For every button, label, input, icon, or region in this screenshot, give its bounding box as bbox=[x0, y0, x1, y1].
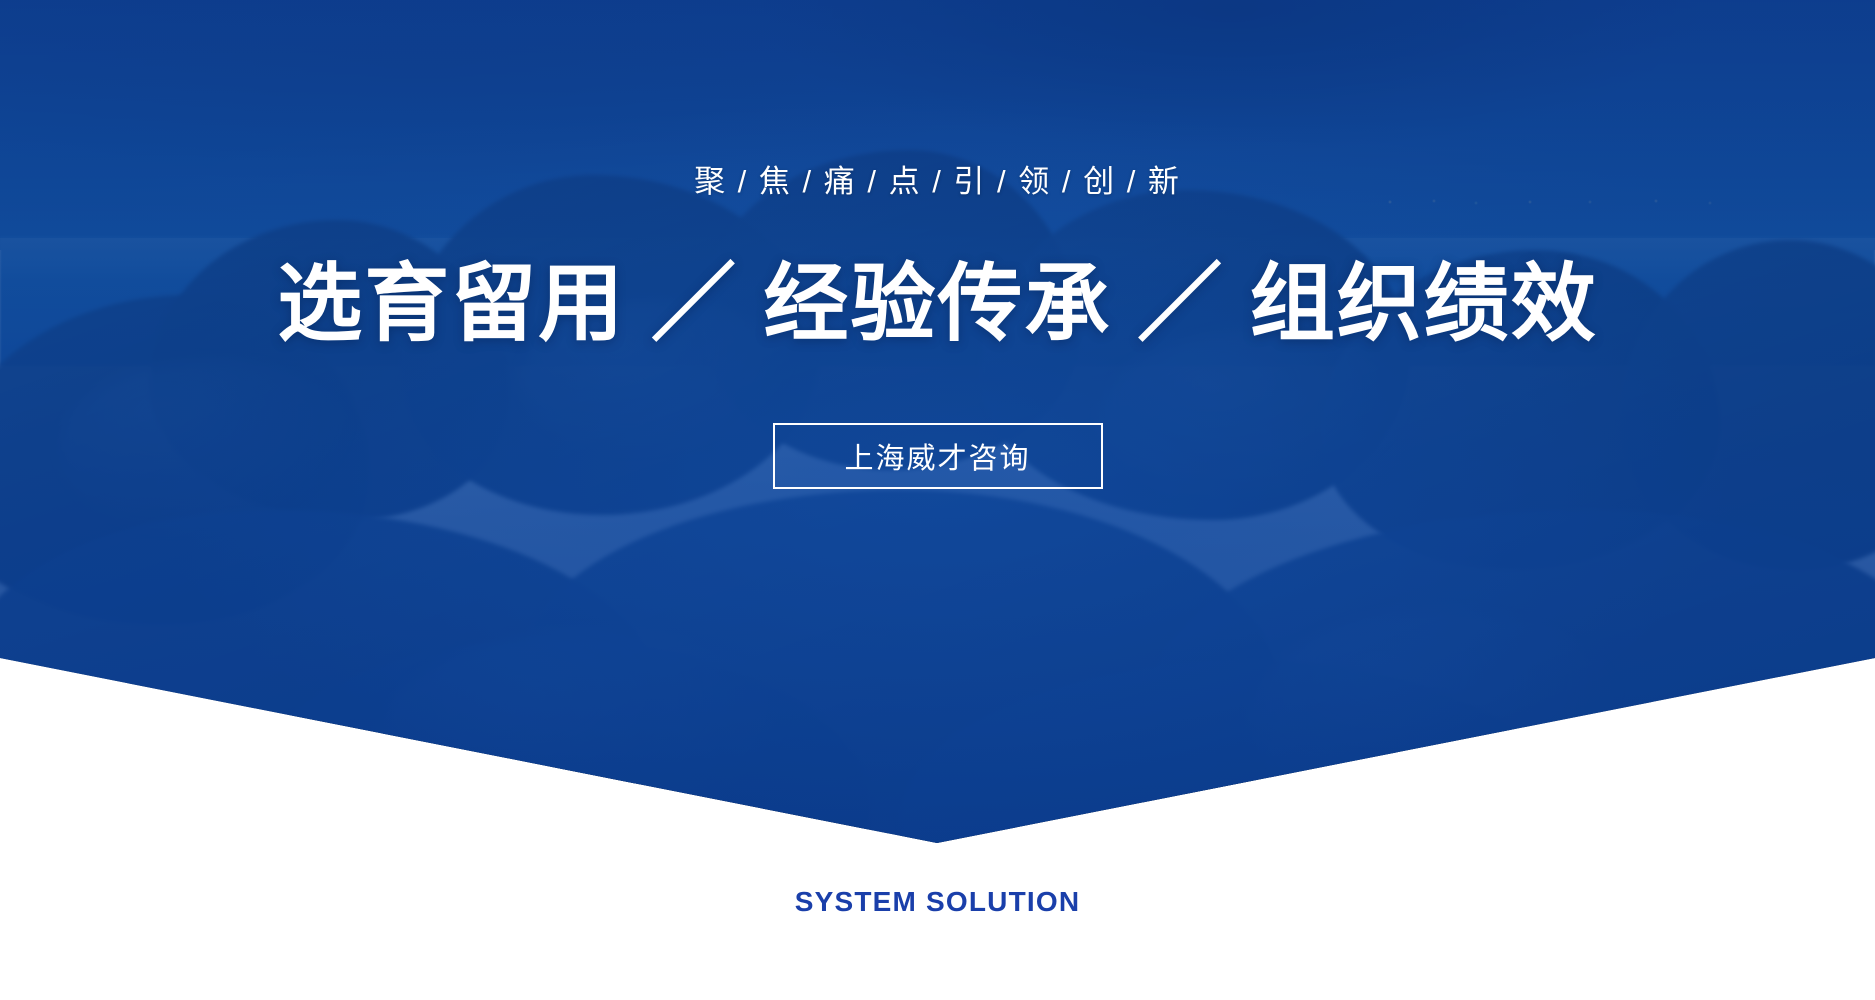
footer-tagline: SYSTEM SOLUTION bbox=[795, 886, 1081, 918]
hero-content: 聚 / 焦 / 痛 / 点 / 引 / 领 / 创 / 新 选育留用 ／ 经验传… bbox=[0, 0, 1875, 845]
footer-band: SYSTEM SOLUTION bbox=[0, 845, 1875, 1000]
slide-root: 聚 / 焦 / 痛 / 点 / 引 / 领 / 创 / 新 选育留用 ／ 经验传… bbox=[0, 0, 1875, 1000]
page-title: 选育留用 ／ 经验传承 ／ 组织绩效 bbox=[277, 260, 1597, 350]
company-cta-button[interactable]: 上海威才咨询 bbox=[773, 423, 1103, 489]
eyebrow-text: 聚 / 焦 / 痛 / 点 / 引 / 领 / 创 / 新 bbox=[694, 166, 1181, 197]
